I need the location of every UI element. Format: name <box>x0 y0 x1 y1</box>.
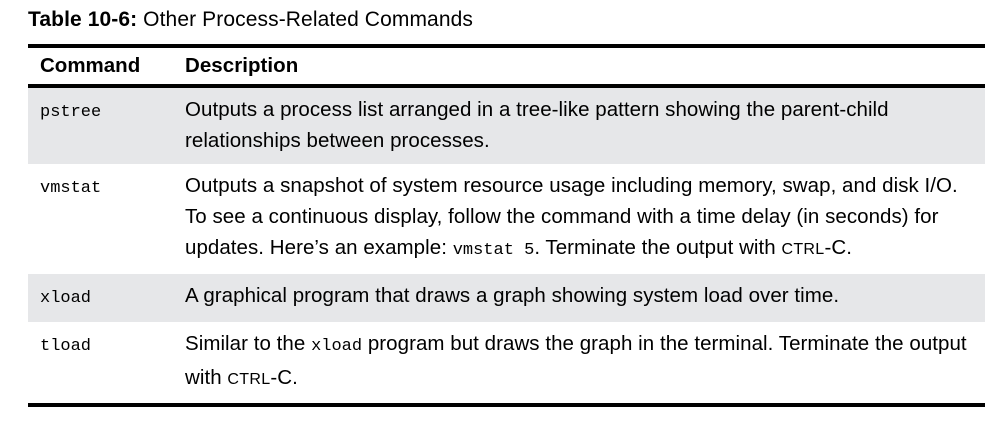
description-text: -C. <box>270 366 297 389</box>
table-row: pstreeOutputs a process list arranged in… <box>28 88 985 164</box>
column-header-description: Description <box>185 51 985 81</box>
description-text: A graphical program that draws a graph s… <box>185 284 839 307</box>
column-header-command: Command <box>28 51 185 81</box>
cell-description: Outputs a snapshot of system resource us… <box>185 170 985 266</box>
description-text: Similar to the <box>185 332 311 355</box>
table-bottom-rule <box>28 403 985 407</box>
table-figure: Table 10-6: Other Process-Related Comman… <box>0 0 1003 446</box>
commands-table: Command Description pstreeOutputs a proc… <box>28 44 985 407</box>
table-caption: Table 10-6: Other Process-Related Comman… <box>28 6 978 34</box>
cell-description: Outputs a process list arranged in a tre… <box>185 94 985 156</box>
table-body: pstreeOutputs a process list arranged in… <box>28 88 985 403</box>
cell-command: vmstat <box>28 170 185 204</box>
cell-command: pstree <box>28 94 185 128</box>
caption-text: Other Process-Related Commands <box>137 8 473 31</box>
table-row: vmstatOutputs a snapshot of system resou… <box>28 164 985 274</box>
description-text: -C. <box>824 236 851 259</box>
table-row: tloadSimilar to the xload program but dr… <box>28 322 985 403</box>
description-text: Outputs a process list arranged in a tre… <box>185 98 889 152</box>
description-text: . Terminate the output with <box>534 236 781 259</box>
caption-label: Table 10-6: <box>28 8 137 31</box>
cell-description: A graphical program that draws a graph s… <box>185 280 985 311</box>
cell-command: xload <box>28 280 185 314</box>
inline-code: xload <box>311 337 362 356</box>
table-row: xloadA graphical program that draws a gr… <box>28 274 985 322</box>
cell-command: tload <box>28 328 185 362</box>
key-label: CTRL <box>227 371 270 388</box>
inline-code: vmstat 5 <box>453 241 535 260</box>
table-header-row: Command Description <box>28 48 985 84</box>
key-label: CTRL <box>781 241 824 258</box>
cell-description: Similar to the xload program but draws t… <box>185 328 985 395</box>
